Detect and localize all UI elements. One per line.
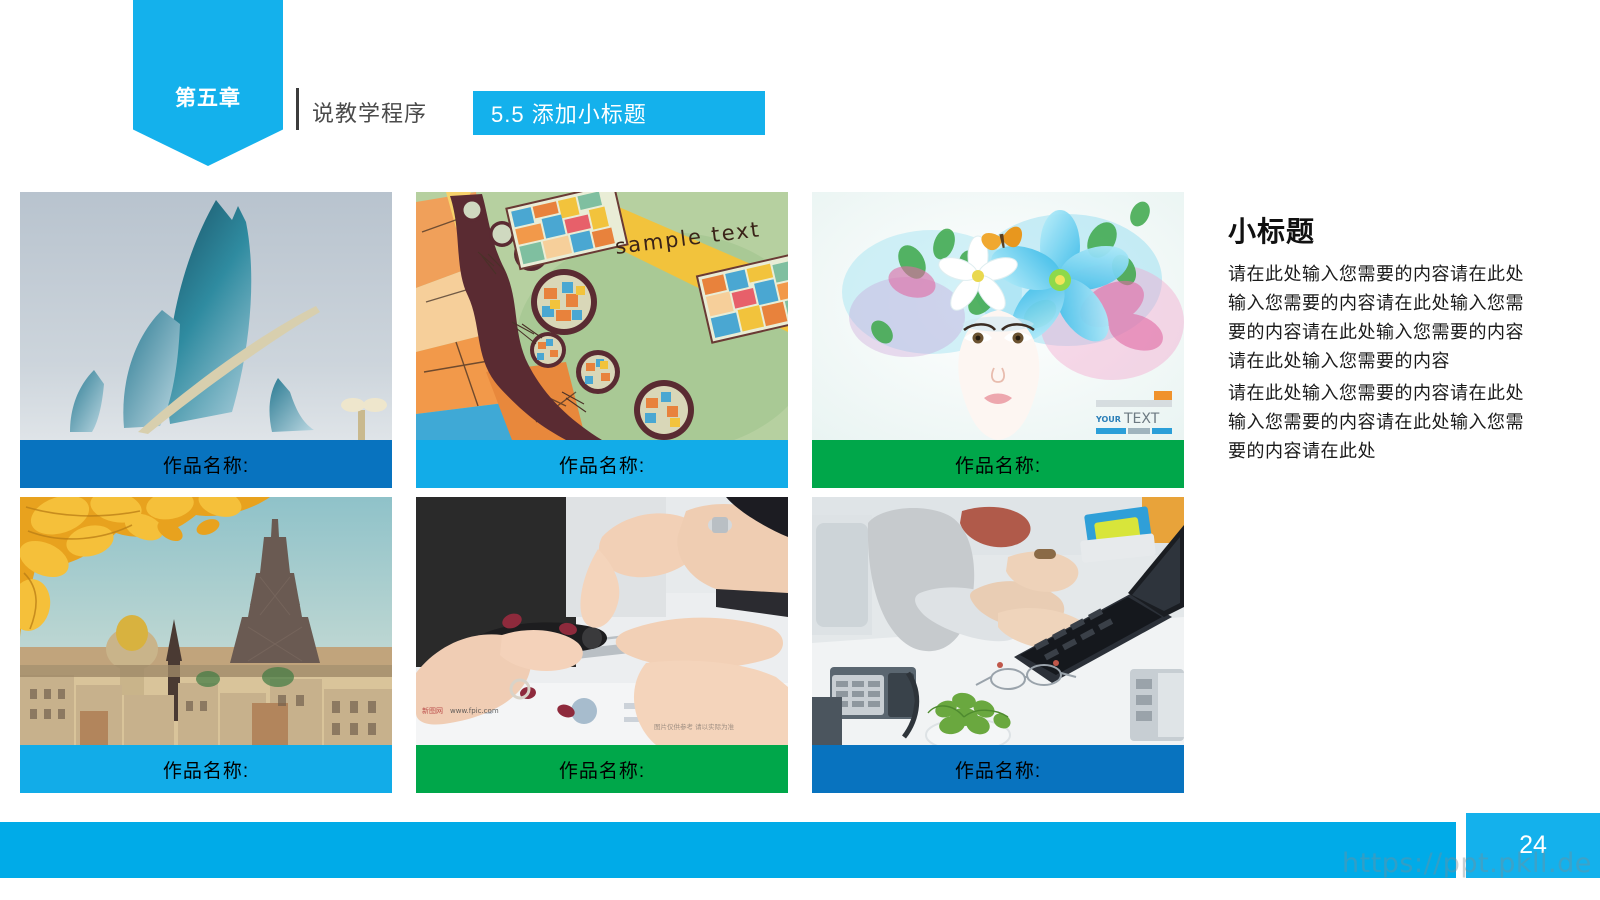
text-panel-title: 小标题 — [1228, 210, 1528, 250]
card-caption: 作品名称: — [20, 440, 392, 488]
watermark: https://ppt.pkll.de — [1342, 848, 1600, 879]
svg-text:YOUR: YOUR — [1095, 415, 1121, 424]
paris-autumn-photo[interactable] — [20, 497, 392, 745]
floral-face-illustration[interactable]: YOUR TEXT — [812, 192, 1184, 440]
card-caption: 作品名称: — [416, 440, 788, 488]
card-caption: 作品名称: — [812, 440, 1184, 488]
gallery-card[interactable]: sample text 作品名称: — [416, 192, 788, 488]
gallery-card[interactable]: 作品名称: — [20, 192, 392, 488]
card-caption: 作品名称: — [20, 745, 392, 793]
text-panel: 小标题 请在此处输入您需要的内容请在此处输入您需要的内容请在此处输入您需要的内容… — [1228, 210, 1528, 466]
gallery-card[interactable]: 作品名称: — [812, 497, 1184, 793]
gallery-card[interactable]: YOUR TEXT 作品名称: — [812, 192, 1184, 488]
svg-text:图片仅供参考 请以实际为准: 图片仅供参考 请以实际为准 — [654, 722, 735, 731]
gallery-card[interactable]: 新图网 www.fpic.com 图片仅供参考 请以实际为准 作品名称: — [416, 497, 788, 793]
gallery-card[interactable]: 作品名称: — [20, 497, 392, 793]
sail-sculpture-photo[interactable] — [20, 192, 392, 440]
office-desk-laptop-photo[interactable] — [812, 497, 1184, 745]
text-panel-paragraph: 请在此处输入您需要的内容请在此处输入您需要的内容请在此处输入您需要的内容请在此处… — [1228, 260, 1528, 377]
business-hands-tablet-photo[interactable]: 新图网 www.fpic.com 图片仅供参考 请以实际为准 — [416, 497, 788, 745]
chapter-label: 第五章 — [175, 82, 241, 112]
gallery-grid: 作品名称: — [20, 192, 1180, 786]
chapter-ribbon: 第五章 — [133, 0, 283, 166]
svg-text:新图网: 新图网 — [422, 706, 443, 715]
header-subtitle: 说教学程序 — [312, 96, 427, 128]
text-panel-paragraph: 请在此处输入您需要的内容请在此处输入您需要的内容请在此处输入您需要的内容请在此处 — [1228, 379, 1528, 466]
slide-root: 第五章 说教学程序 5.5 添加小标题 — [0, 0, 1600, 900]
card-caption: 作品名称: — [812, 745, 1184, 793]
header-banner-label: 5.5 添加小标题 — [491, 97, 647, 129]
svg-text:TEXT: TEXT — [1123, 411, 1160, 427]
header-divider — [296, 88, 299, 130]
mosaic-tree-illustration[interactable]: sample text — [416, 192, 788, 440]
svg-text:www.fpic.com: www.fpic.com — [450, 707, 499, 715]
header-banner: 5.5 添加小标题 — [473, 91, 765, 135]
footer-bar — [0, 822, 1456, 878]
card-caption: 作品名称: — [416, 745, 788, 793]
